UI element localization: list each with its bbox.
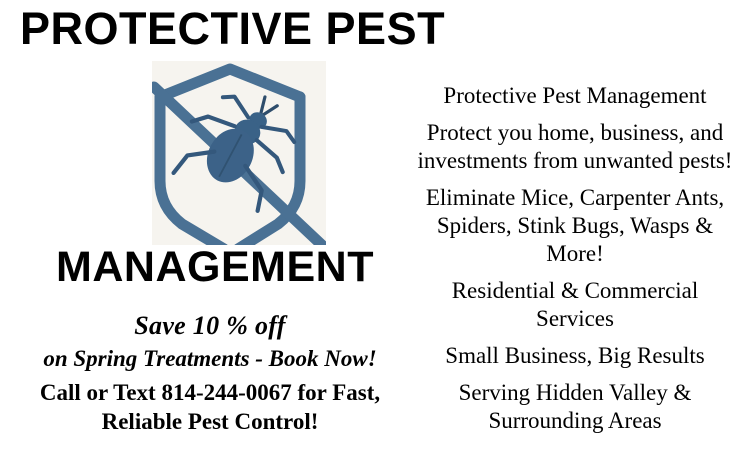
advertisement-flyer: PROTECTIVE PEST <box>0 0 745 471</box>
service-line-eliminate: Eliminate Mice, Carpenter Ants, Spiders,… <box>415 184 735 268</box>
headline-bottom: MANAGEMENT <box>0 243 430 291</box>
promo-offer-line: on Spring Treatments - Book Now! <box>0 344 420 373</box>
promo-discount-line: Save 10 % off <box>0 311 420 341</box>
service-line-company: Protective Pest Management <box>415 82 735 110</box>
service-line-protect: Protect you home, business, and investme… <box>415 119 735 175</box>
headline-top: PROTECTIVE PEST <box>20 4 480 54</box>
shield-with-bug-logo <box>152 61 326 245</box>
promo-tagline: Reliable Pest Control! <box>0 407 420 436</box>
services-column: Protective Pest Management Protect you h… <box>415 82 735 435</box>
service-line-serving-area: Serving Hidden Valley & Surrounding Area… <box>415 379 735 435</box>
promo-contact-line: Call or Text 814-244-0067 for Fast, <box>0 378 420 407</box>
service-line-residential: Residential & Commercial Services <box>415 277 735 333</box>
service-line-small-business: Small Business, Big Results <box>415 342 735 370</box>
promo-block: Save 10 % off on Spring Treatments - Boo… <box>0 311 420 436</box>
